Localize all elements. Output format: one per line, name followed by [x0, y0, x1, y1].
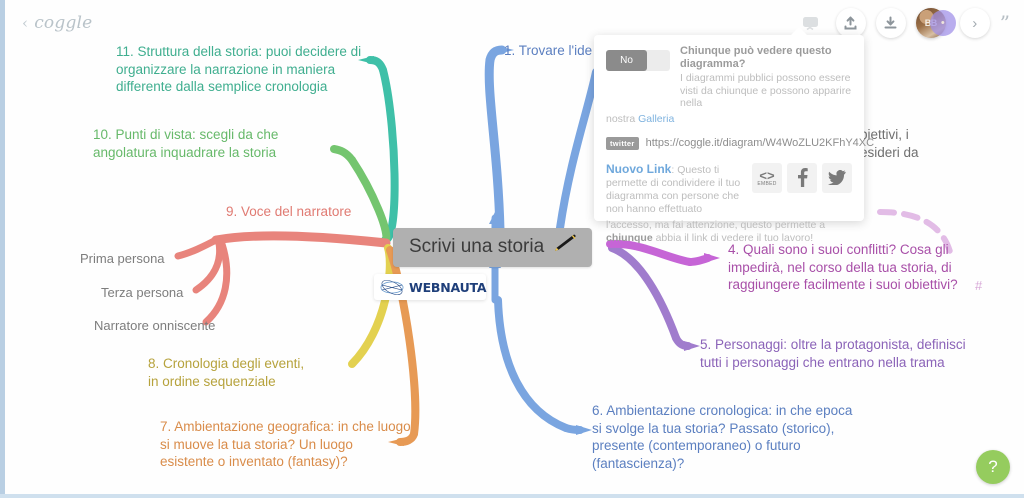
node-9-omniscient[interactable]: Narratore onniscente — [94, 317, 215, 335]
gallery-prefix: nostra — [606, 113, 638, 125]
share-url-row[interactable]: twitter https://coggle.it/diagram/W4WoZL… — [606, 137, 852, 150]
social-buttons: <> EMBED — [752, 163, 852, 216]
gallery-link[interactable]: Galleria — [638, 113, 674, 125]
new-link-colon: : — [671, 164, 674, 176]
tail-part-1: l'accesso, ma fai attenzione, questo per… — [606, 219, 825, 231]
quote-icon[interactable]: ” — [1000, 13, 1010, 33]
upload-icon[interactable] — [836, 8, 866, 38]
logo-text: coggle — [34, 13, 92, 33]
tail-part-2: abbia il link di vedere il tuo lavoro! — [653, 232, 814, 244]
back-chevron-icon[interactable]: ‹ — [22, 14, 28, 32]
share-description: I diagrammi pubblici possono essere vist… — [680, 72, 852, 110]
webnauta-label: WEBNAUTA — [409, 280, 486, 295]
new-link-tail: l'accesso, ma fai attenzione, questo per… — [606, 219, 852, 245]
share-url[interactable]: https://coggle.it/diagram/W4WoZLU2KFhY4X… — [646, 137, 874, 149]
facebook-icon[interactable] — [787, 163, 817, 193]
top-toolbar: BB • › ” — [796, 8, 1010, 38]
node-4-hash-icon[interactable]: # — [975, 277, 982, 295]
node-11[interactable]: 11. Struttura della storia: puoi decider… — [116, 43, 378, 96]
collaborator-avatar[interactable]: • — [930, 10, 956, 36]
twitter-chip: twitter — [606, 137, 639, 150]
coggle-logo[interactable]: ‹ coggle — [22, 13, 92, 33]
center-node[interactable]: Scrivi una storia — [393, 228, 592, 267]
embed-icon[interactable]: <> EMBED — [752, 163, 782, 193]
download-icon[interactable] — [876, 8, 906, 38]
node-6[interactable]: 6. Ambientazione cronologica: in che epo… — [592, 402, 872, 472]
webnauta-mark-icon — [379, 279, 405, 296]
node-4[interactable]: 4. Quali sono i suoi conflitti? Cosa gli… — [728, 241, 994, 294]
new-link-description: Nuovo Link: Questo ti permette di condiv… — [606, 163, 744, 216]
help-button[interactable]: ? — [976, 450, 1010, 484]
share-question: Chiunque può vedere questo diagramma? — [680, 45, 852, 71]
pencil-icon — [552, 234, 578, 260]
chevron-right-icon: › — [972, 15, 977, 32]
center-node-label: Scrivi una storia — [409, 236, 544, 258]
gallery-line: nostra Galleria — [606, 113, 852, 125]
node-10[interactable]: 10. Punti di vista: scegli da che angola… — [93, 126, 333, 161]
node-9-first-person[interactable]: Prima persona — [80, 250, 165, 268]
node-7[interactable]: 7. Ambientazione geografica: in che luog… — [160, 418, 420, 471]
public-toggle[interactable]: No — [606, 50, 670, 71]
share-popup: No Chiunque può vedere questo diagramma?… — [594, 35, 864, 221]
public-toggle-value: No — [606, 50, 647, 71]
avatar[interactable]: BB • — [916, 8, 950, 38]
help-glyph: ? — [988, 457, 997, 477]
coggle-canvas: ‹ coggle BB • › ” No Chiunque può vedere — [0, 0, 1024, 498]
node-3-partial[interactable]: biettivi, i esideri da — [860, 126, 980, 161]
node-8[interactable]: 8. Cronologia degli eventi, in ordine se… — [148, 355, 348, 390]
node-9-third-person[interactable]: Terza persona — [101, 284, 183, 302]
twitter-icon[interactable] — [822, 163, 852, 193]
node-1[interactable]: 1. Trovare l'ide — [504, 42, 592, 60]
new-link-label[interactable]: Nuovo Link — [606, 162, 671, 176]
tail-bold: chiunque — [606, 232, 653, 244]
collapse-panel-icon[interactable]: › — [960, 8, 990, 38]
node-9[interactable]: 9. Voce del narratore — [226, 203, 386, 221]
embed-label: EMBED — [757, 181, 776, 187]
node-5[interactable]: 5. Personaggi: oltre la protagonista, de… — [700, 336, 970, 371]
webnauta-logo-card[interactable]: WEBNAUTA — [374, 274, 486, 300]
